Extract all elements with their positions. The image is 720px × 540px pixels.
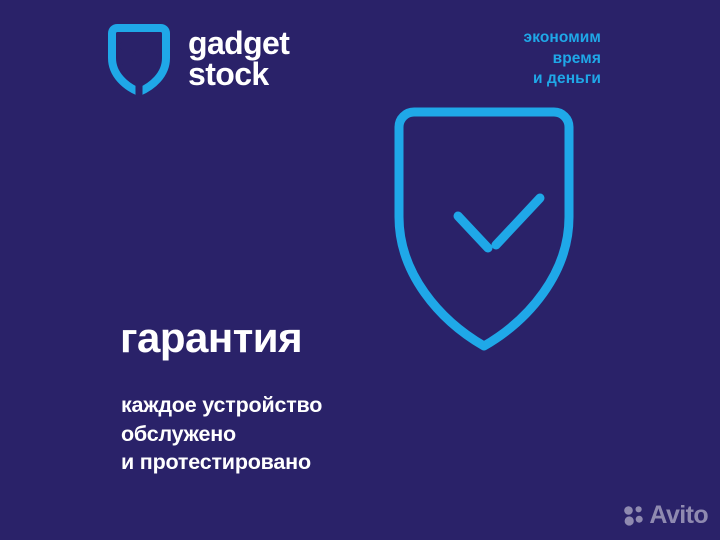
body-copy-line-1: каждое устройство <box>121 391 322 420</box>
tagline-line-1: экономим <box>524 28 601 49</box>
brand-logo: gadget stock <box>106 22 289 96</box>
brand-wordmark: gadget stock <box>188 28 289 90</box>
brand-wordmark-line-2: stock <box>188 59 289 90</box>
shield-logo-icon <box>106 22 172 96</box>
shield-check-icon <box>392 105 576 353</box>
promo-banner: gadget stock экономим время и деньги гар… <box>0 0 720 540</box>
page-title: гарантия <box>120 317 302 359</box>
body-copy: каждое устройство обслужено и протестиро… <box>121 391 322 477</box>
brand-wordmark-line-1: gadget <box>188 28 289 59</box>
body-copy-line-2: обслужено <box>121 420 322 449</box>
tagline: экономим время и деньги <box>524 28 601 90</box>
avito-label: Avito <box>649 503 708 528</box>
body-copy-line-3: и протестировано <box>121 448 322 477</box>
tagline-line-3: и деньги <box>524 69 601 90</box>
avito-watermark: Avito <box>623 503 708 528</box>
tagline-line-2: время <box>524 49 601 70</box>
avito-dots-icon <box>623 505 644 526</box>
